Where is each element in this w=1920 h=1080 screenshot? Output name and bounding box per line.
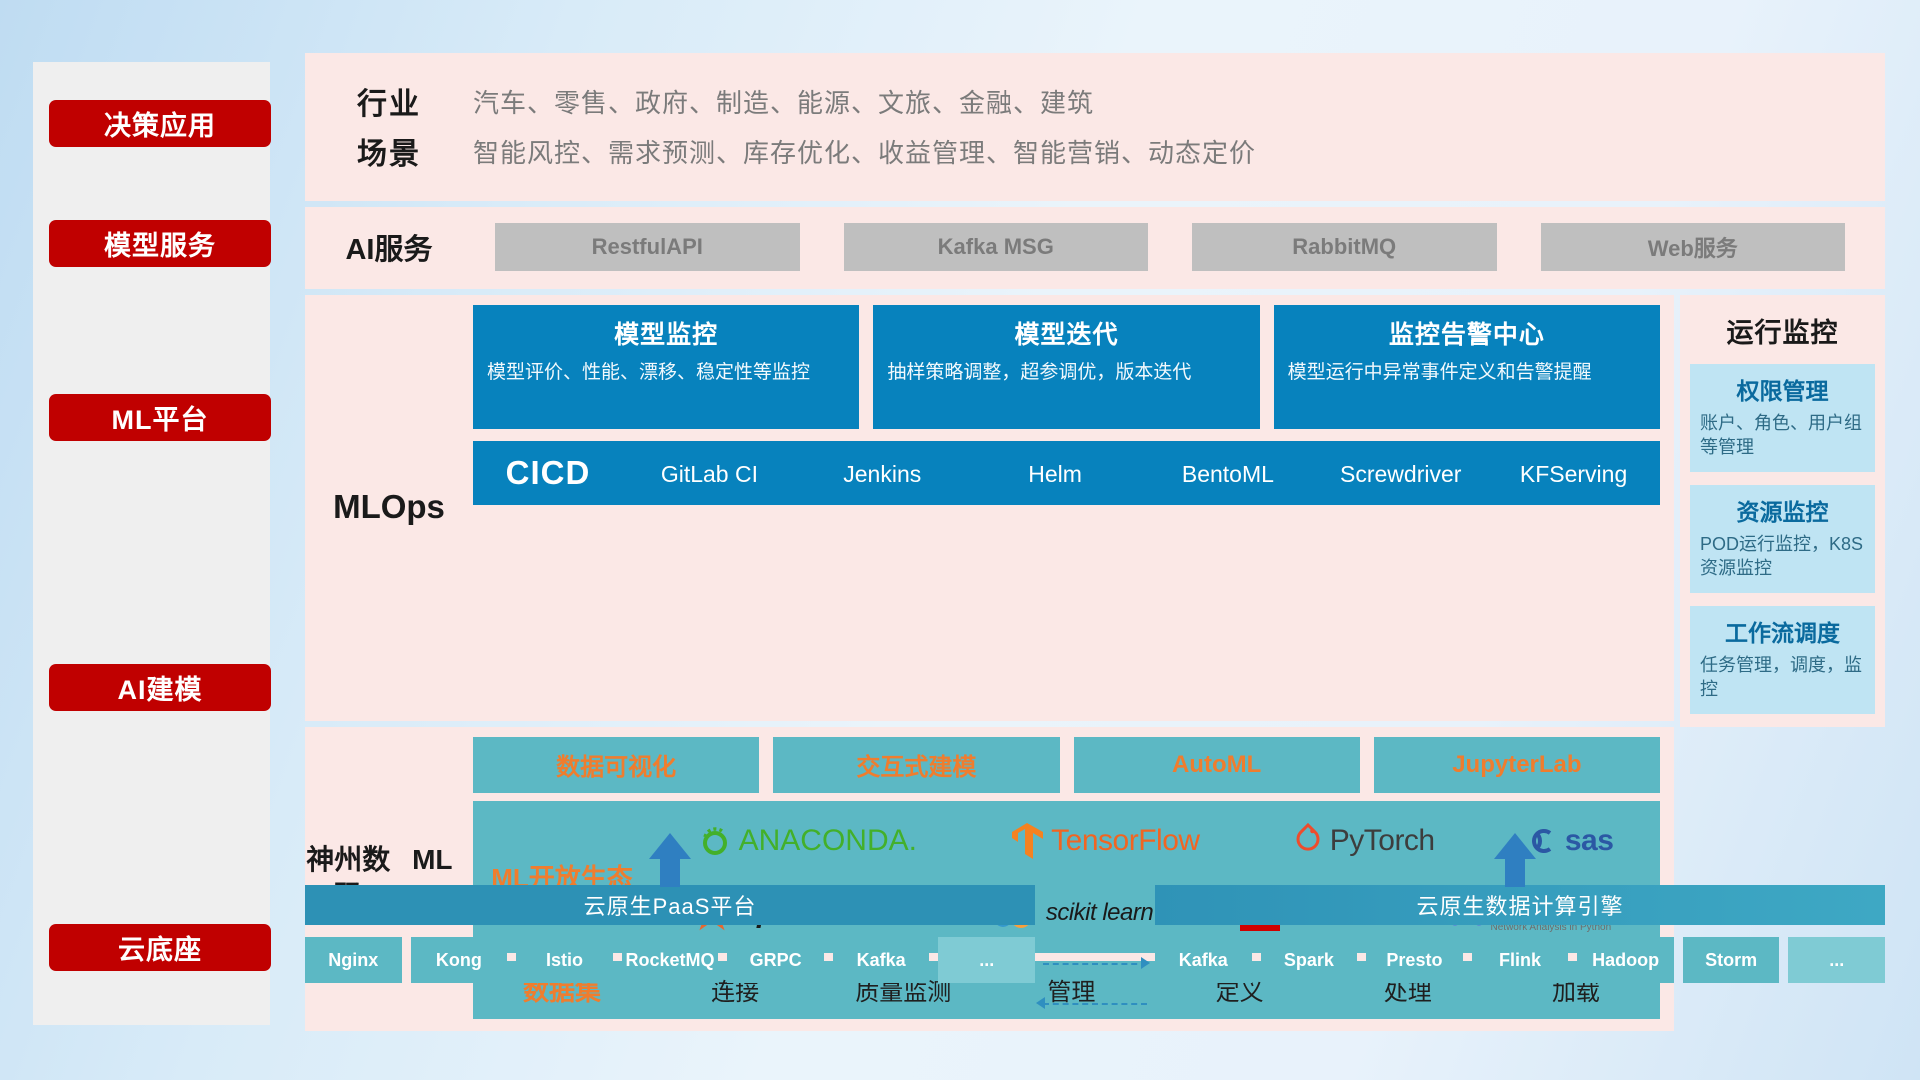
dash-line-top xyxy=(1043,963,1147,965)
cicd-item-jenkins[interactable]: Jenkins xyxy=(796,461,969,486)
data-engine-bar[interactable]: 云原生数据计算引擎 xyxy=(1155,885,1885,925)
data-engine-column: 云原生数据计算引擎 Kafka Spark Presto Flink Hadoo… xyxy=(1155,885,1885,983)
mlops-cards: 模型监控 模型评价、性能、漂移、稳定性等监控 模型迭代 抽样策略调整，超参调优，… xyxy=(473,305,1660,429)
chip-kong[interactable]: Kong xyxy=(411,937,508,983)
arrow-head-right xyxy=(1494,833,1536,859)
cicd-title: CICD xyxy=(473,454,623,492)
chip-grpc[interactable]: GRPC xyxy=(727,937,824,983)
sas-logo: sas xyxy=(1528,824,1614,858)
chip-more-left[interactable]: ... xyxy=(938,937,1035,983)
sidebar-item-model-service[interactable]: 模型服务 xyxy=(49,220,271,267)
card-title: 监控告警中心 xyxy=(1288,315,1646,351)
runtime-monitoring-rail: 运行监控 权限管理 账户、角色、用户组等管理 资源监控 POD运行监控，K8S资… xyxy=(1680,295,1885,727)
data-engine-chips: Kafka Spark Presto Flink Hadoop Storm ..… xyxy=(1155,937,1885,983)
sidebar-item-label: ML平台 xyxy=(112,398,209,437)
ml-lab-row: 神州数码 ML LAB 数据可视化 交互式建模 AutoML JupyterLa… xyxy=(305,727,1885,1037)
tensorflow-label: TensorFlow xyxy=(1051,824,1199,858)
decision-application-band: 行业 汽车、零售、政府、制造、能源、文旅、金融、建筑 场景 智能风控、需求预测、… xyxy=(305,53,1885,201)
sidebar-item-label: AI建模 xyxy=(118,668,203,707)
paas-bar[interactable]: 云原生PaaS平台 xyxy=(305,885,1035,925)
tab-jupyterlab[interactable]: JupyterLab xyxy=(1374,737,1660,793)
card-title: 权限管理 xyxy=(1700,372,1865,406)
pytorch-icon xyxy=(1293,823,1323,859)
sidebar-item-label: 决策应用 xyxy=(104,104,216,143)
chip-nginx[interactable]: Nginx xyxy=(305,937,402,983)
anaconda-label: ANACONDA. xyxy=(739,824,917,858)
chip-more-right[interactable]: ... xyxy=(1788,937,1885,983)
dash-arrow-left xyxy=(1036,997,1045,1009)
card-title: 模型迭代 xyxy=(887,315,1245,351)
service-chip-label: RestfulAPI xyxy=(592,234,703,260)
mlops-band: MLOps 模型监控 模型评价、性能、漂移、稳定性等监控 模型迭代 抽样策略调整… xyxy=(305,295,1674,721)
mlops-title: MLOps xyxy=(305,305,473,709)
chip-flink[interactable]: Flink xyxy=(1472,937,1569,983)
card-title: 工作流调度 xyxy=(1700,614,1865,648)
cicd-item-bentoml[interactable]: BentoML xyxy=(1141,461,1314,486)
sidebar-item-label: 云底座 xyxy=(118,928,202,967)
industry-row: 行业 汽车、零售、政府、制造、能源、文旅、金融、建筑 xyxy=(305,79,1885,123)
ml-lab-tabs: 数据可视化 交互式建模 AutoML JupyterLab xyxy=(473,737,1660,793)
sidebar-item-label: 模型服务 xyxy=(104,224,216,263)
pytorch-logo: PyTorch xyxy=(1293,823,1435,859)
sidebar-item-cloud-base[interactable]: 云底座 xyxy=(49,924,271,971)
anaconda-logo: ANACONDA. xyxy=(698,824,917,858)
sas-label: sas xyxy=(1565,824,1614,858)
cicd-item-helm[interactable]: Helm xyxy=(969,461,1142,486)
runtime-monitoring-title: 运行监控 xyxy=(1680,295,1885,364)
anaconda-icon xyxy=(698,824,732,858)
chip-rocketmq[interactable]: RocketMQ xyxy=(622,937,719,983)
cicd-bar: CICD GitLab CI Jenkins Helm BentoML Scre… xyxy=(473,441,1660,505)
card-desc: 模型评价、性能、漂移、稳定性等监控 xyxy=(487,360,845,385)
mlops-card-model-iteration[interactable]: 模型迭代 抽样策略调整，超参调优，版本迭代 xyxy=(873,305,1259,429)
sidebar-item-ai-modeling[interactable]: AI建模 xyxy=(49,664,271,711)
scenario-values: 智能风控、需求预测、库存优化、收益管理、智能营销、动态定价 xyxy=(473,133,1256,170)
architecture-diagram: 决策应用 模型服务 ML平台 AI建模 云底座 行业 汽车、零售、政府、制造、能… xyxy=(0,0,1920,1080)
ai-service-items: RestfulAPI Kafka MSG RabbitMQ Web服务 xyxy=(473,223,1885,271)
cicd-item-screwdriver[interactable]: Screwdriver xyxy=(1314,461,1487,486)
card-desc: 抽样策略调整，超参调优，版本迭代 xyxy=(887,360,1245,385)
scenario-row: 场景 智能风控、需求预测、库存优化、收益管理、智能营销、动态定价 xyxy=(305,129,1885,173)
service-chip-web[interactable]: Web服务 xyxy=(1541,223,1846,271)
chip-hadoop[interactable]: Hadoop xyxy=(1577,937,1674,983)
tab-interactive-modeling[interactable]: 交互式建模 xyxy=(773,737,1059,793)
sidebar-item-decision-app[interactable]: 决策应用 xyxy=(49,100,271,147)
tab-data-visualization[interactable]: 数据可视化 xyxy=(473,737,759,793)
tab-automl[interactable]: AutoML xyxy=(1074,737,1360,793)
cicd-item-kfserving[interactable]: KFServing xyxy=(1487,461,1660,486)
tensorflow-logo: TensorFlow xyxy=(1010,821,1199,861)
chip-kafka-right[interactable]: Kafka xyxy=(1155,937,1252,983)
service-chip-kafka-msg[interactable]: Kafka MSG xyxy=(844,223,1149,271)
card-title: 资源监控 xyxy=(1700,493,1865,527)
pytorch-label: PyTorch xyxy=(1330,824,1435,858)
chip-storm[interactable]: Storm xyxy=(1683,937,1780,983)
dash-arrow-right xyxy=(1141,957,1150,969)
chip-kafka[interactable]: Kafka xyxy=(833,937,930,983)
chip-spark[interactable]: Spark xyxy=(1261,937,1358,983)
card-title: 模型监控 xyxy=(487,315,845,351)
paas-column: 云原生PaaS平台 Nginx Kong Istio RocketMQ GRPC… xyxy=(305,885,1035,983)
card-desc: 任务管理，调度，监控 xyxy=(1700,654,1865,702)
sidebar-item-ml-platform[interactable]: ML平台 xyxy=(49,394,271,441)
cicd-item-gitlab-ci[interactable]: GitLab CI xyxy=(623,461,796,486)
dash-line-bottom xyxy=(1043,1003,1147,1005)
scenario-label: 场景 xyxy=(305,129,473,173)
ai-service-band: AI服务 RestfulAPI Kafka MSG RabbitMQ Web服务 xyxy=(305,207,1885,289)
monitor-card-permissions[interactable]: 权限管理 账户、角色、用户组等管理 xyxy=(1690,364,1875,472)
service-chip-rabbitmq[interactable]: RabbitMQ xyxy=(1192,223,1497,271)
card-desc: 账户、角色、用户组等管理 xyxy=(1700,412,1865,460)
industry-values: 汽车、零售、政府、制造、能源、文旅、金融、建筑 xyxy=(473,83,1094,120)
tensorflow-icon xyxy=(1010,821,1044,861)
service-chip-label: Web服务 xyxy=(1648,231,1738,263)
cloud-foundation-section: 云原生PaaS平台 Nginx Kong Istio RocketMQ GRPC… xyxy=(305,885,1885,983)
layer-sidebar: 决策应用 模型服务 ML平台 AI建模 云底座 xyxy=(33,62,270,1025)
mlops-card-alert-center[interactable]: 监控告警中心 模型运行中异常事件定义和告警提醒 xyxy=(1274,305,1660,429)
paas-chips: Nginx Kong Istio RocketMQ GRPC Kafka ... xyxy=(305,937,1035,983)
card-desc: POD运行监控，K8S资源监控 xyxy=(1700,533,1865,581)
monitor-card-resources[interactable]: 资源监控 POD运行监控，K8S资源监控 xyxy=(1690,485,1875,593)
service-chip-restfulapi[interactable]: RestfulAPI xyxy=(495,223,800,271)
platform-row: MLOps 模型监控 模型评价、性能、漂移、稳定性等监控 模型迭代 抽样策略调整… xyxy=(305,295,1885,727)
mlops-card-model-monitoring[interactable]: 模型监控 模型评价、性能、漂移、稳定性等监控 xyxy=(473,305,859,429)
service-chip-label: Kafka MSG xyxy=(938,234,1054,260)
ai-service-label: AI服务 xyxy=(305,226,473,268)
monitor-card-workflow[interactable]: 工作流调度 任务管理，调度，监控 xyxy=(1690,606,1875,714)
chip-presto[interactable]: Presto xyxy=(1366,937,1463,983)
ml-lab-band: 神州数码 ML LAB 数据可视化 交互式建模 AutoML JupyterLa… xyxy=(305,727,1674,1031)
arrow-shaft-right xyxy=(1505,857,1525,887)
industry-label: 行业 xyxy=(305,79,473,123)
arrow-shaft-left xyxy=(660,857,680,887)
arrow-head-left xyxy=(649,833,691,859)
card-desc: 模型运行中异常事件定义和告警提醒 xyxy=(1288,360,1646,385)
chip-istio[interactable]: Istio xyxy=(516,937,613,983)
service-chip-label: RabbitMQ xyxy=(1292,234,1396,260)
